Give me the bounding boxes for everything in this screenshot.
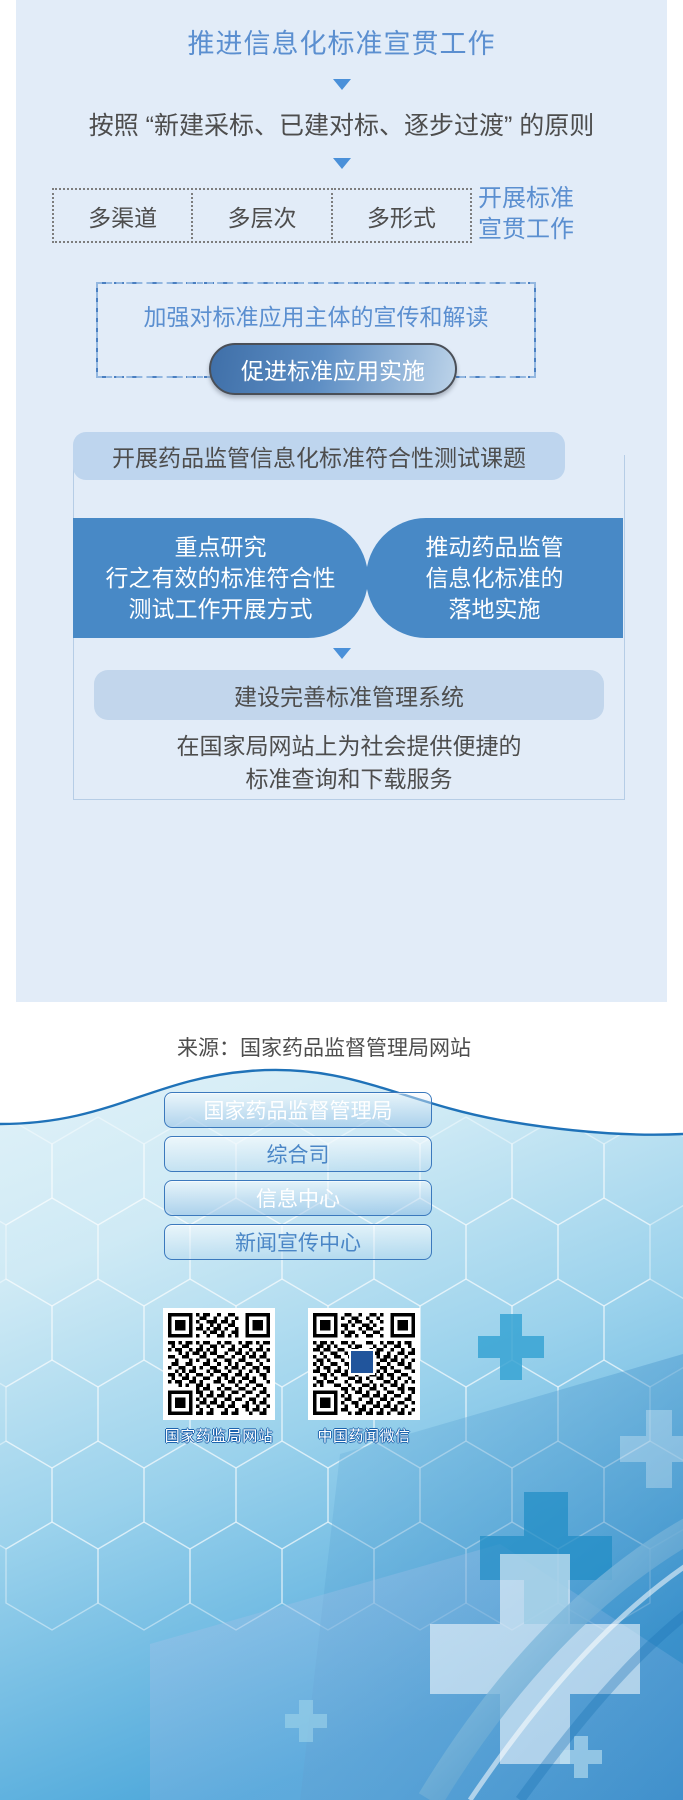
qr-block-website: 国家药监局网站	[163, 1308, 275, 1446]
qr-center-logo	[349, 1349, 375, 1375]
channels-caption-line-1: 开展标准	[478, 183, 598, 214]
org-buttons-list: 国家药品监督管理局 综合司 信息中心 新闻宣传中心	[164, 1092, 432, 1268]
service-text-line-2: 标准查询和下载服务	[73, 763, 625, 796]
blue-card-right-line-2: 信息化标准的	[426, 563, 564, 594]
channels-caption: 开展标准 宣贯工作	[478, 183, 598, 245]
qr-code-image-wechat[interactable]	[308, 1308, 420, 1420]
arrow-down-icon-3	[333, 648, 351, 659]
promotion-pill: 促进标准应用实施	[209, 343, 457, 395]
service-text-line-1: 在国家局网站上为社会提供便捷的	[73, 730, 625, 763]
blue-card-right: 推动药品监管 信息化标准的 落地实施	[366, 518, 623, 638]
qr-caption-website: 国家药监局网站	[163, 1425, 275, 1446]
qr-caption-wechat: 中国药闻微信	[308, 1425, 420, 1446]
service-text: 在国家局网站上为社会提供便捷的 标准查询和下载服务	[73, 730, 625, 796]
channels-row: 多渠道 多层次 多形式	[52, 188, 472, 243]
blue-card-left-line-3: 测试工作开展方式	[106, 594, 336, 625]
blue-card-left: 重点研究 行之有效的标准符合性 测试工作开展方式	[73, 518, 368, 638]
principle-statement: 按照 “新建采标、已建对标、逐步过渡” 的原则	[16, 106, 667, 142]
qr-code-image-website[interactable]	[163, 1308, 275, 1420]
org-button-3[interactable]: 信息中心	[164, 1180, 432, 1216]
blue-card-left-line-2: 行之有效的标准符合性	[106, 563, 336, 594]
qr-block-wechat: 中国药闻微信	[308, 1308, 420, 1446]
blue-card-right-line-1: 推动药品监管	[426, 532, 564, 563]
arrow-wrap	[16, 648, 667, 659]
channel-cell-2: 多层次	[191, 188, 332, 243]
page-title: 推进信息化标准宣贯工作	[16, 0, 667, 61]
org-button-2[interactable]: 综合司	[164, 1136, 432, 1172]
org-button-4[interactable]: 新闻宣传中心	[164, 1224, 432, 1260]
footer: 国家药品监督管理局 综合司 信息中心 新闻宣传中心	[0, 1024, 683, 1800]
subject-title-pill: 开展药品监管信息化标准符合性测试课题	[73, 432, 565, 480]
channel-cell-3: 多形式	[331, 188, 472, 243]
channels-caption-line-2: 宣贯工作	[478, 214, 598, 245]
qr-code-row: 国家药监局网站	[163, 1308, 463, 1446]
blue-card-left-line-1: 重点研究	[106, 532, 336, 563]
promotion-text: 加强对标准应用主体的宣传和解读	[96, 298, 536, 332]
infographic-panel: 推进信息化标准宣贯工作 按照 “新建采标、已建对标、逐步过渡” 的原则 多渠道 …	[16, 0, 667, 1002]
arrow-down-icon-1	[333, 79, 351, 90]
channel-cell-1: 多渠道	[52, 188, 193, 243]
arrow-down-icon-2	[333, 158, 351, 169]
org-button-1[interactable]: 国家药品监督管理局	[164, 1092, 432, 1128]
system-pill: 建设完善标准管理系统	[94, 670, 604, 720]
blue-cards-row: 重点研究 行之有效的标准符合性 测试工作开展方式 推动药品监管 信息化标准的 落…	[73, 518, 625, 638]
blue-card-right-line-3: 落地实施	[426, 594, 564, 625]
